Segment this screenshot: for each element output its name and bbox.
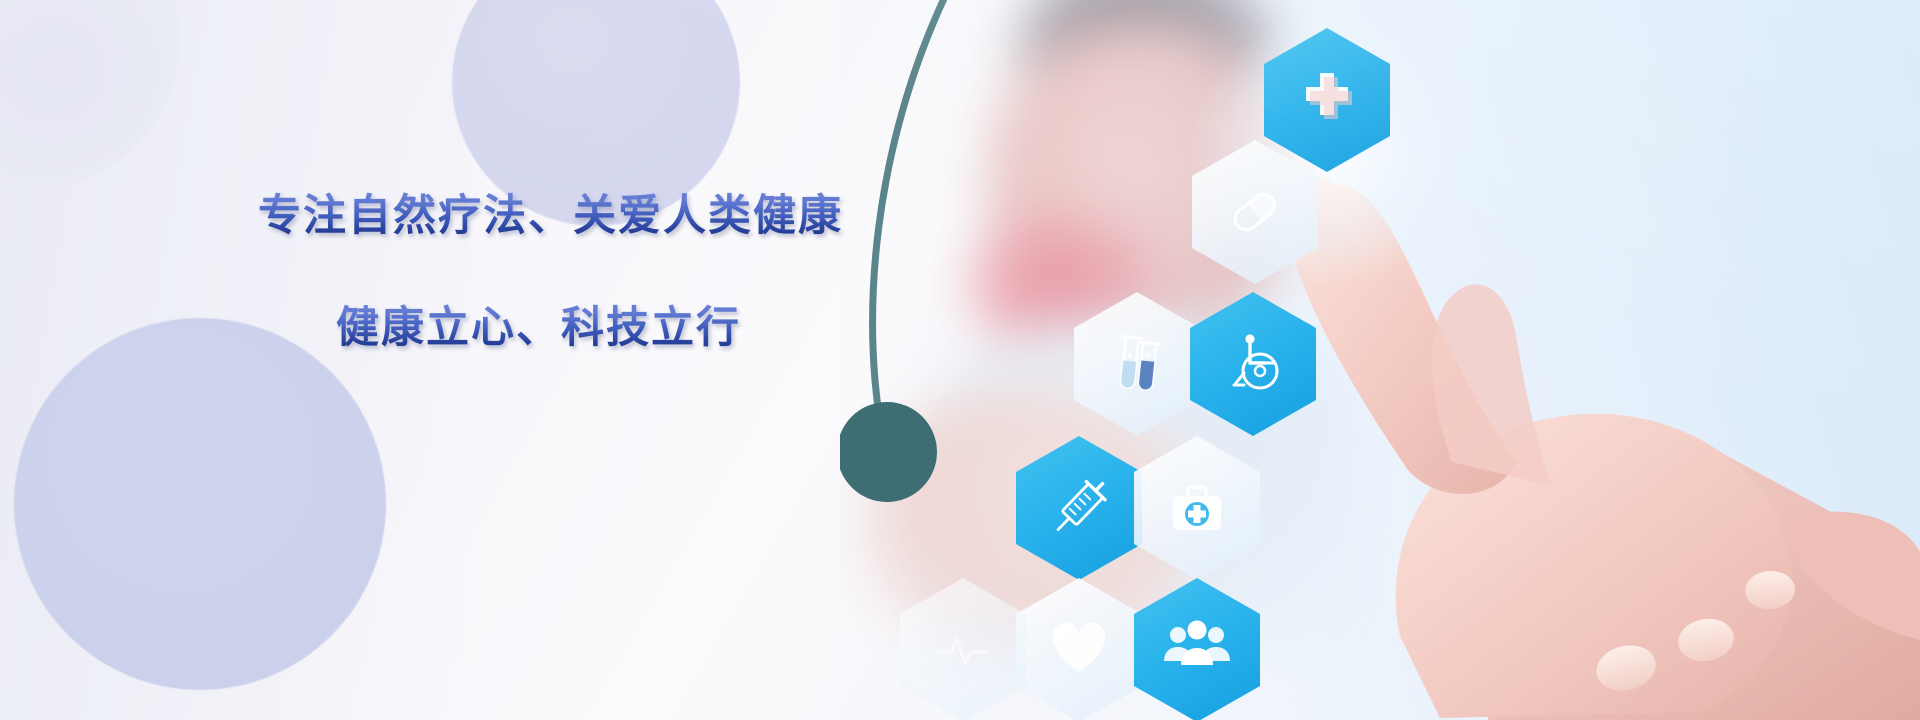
heart-icon	[1045, 616, 1113, 684]
hex-wheelchair[interactable]	[1190, 292, 1316, 436]
people-group-icon	[1160, 613, 1234, 687]
first-aid-kit-icon	[1161, 472, 1233, 544]
photo-composition	[840, 0, 1920, 720]
headline-line-1: 专注自然疗法、关爱人类健康	[258, 190, 878, 242]
test-tubes-icon	[1101, 328, 1173, 400]
capsule-pill-icon	[1219, 176, 1291, 248]
hex-partial-decor	[900, 578, 1026, 720]
hex-capsule[interactable]	[1192, 140, 1318, 284]
hex-first-aid-kit[interactable]	[1134, 436, 1260, 580]
wheelchair-icon	[1216, 327, 1290, 401]
hex-syringe[interactable]	[1016, 436, 1142, 580]
hex-heart[interactable]	[1016, 578, 1142, 720]
hex-people-group[interactable]	[1134, 578, 1260, 720]
decor-circle-bottom	[14, 318, 386, 690]
medical-cross-icon	[1292, 65, 1362, 135]
pulse-icon	[933, 620, 993, 680]
hexagon-icon-cluster	[840, 0, 1920, 720]
hex-test-tubes[interactable]	[1074, 292, 1200, 436]
health-banner: 专注自然疗法、关爱人类健康 健康立心、科技立行	[0, 0, 1920, 720]
headline-line-2: 健康立心、科技立行	[336, 302, 878, 354]
headline-block: 专注自然疗法、关爱人类健康 健康立心、科技立行	[258, 190, 878, 354]
hex-medical-cross[interactable]	[1264, 28, 1390, 172]
syringe-icon	[1041, 470, 1117, 546]
